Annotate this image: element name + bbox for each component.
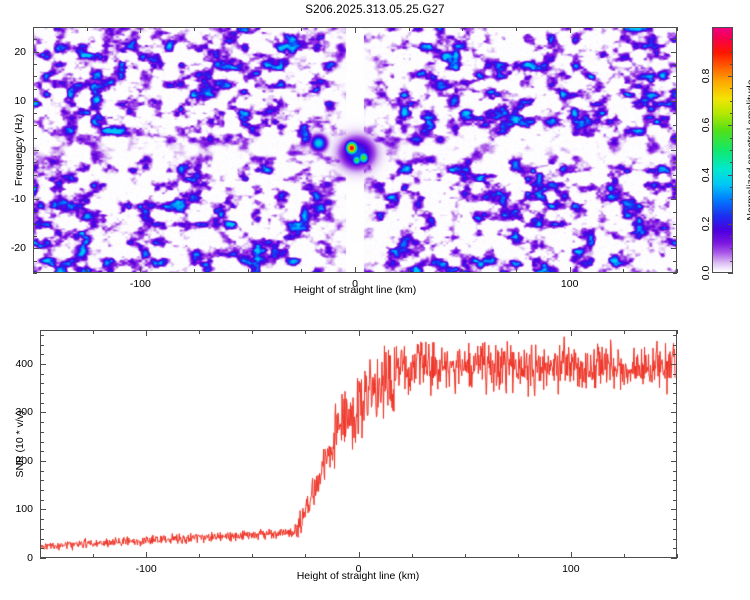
tick-mark: [677, 27, 678, 31]
tick-label: 100: [15, 503, 33, 515]
spectrogram-yaxis-label: Frequency (Hz): [13, 114, 25, 186]
figure-title: S206.2025.313.05.25.G27: [0, 4, 750, 16]
spectrogram-panel: [33, 27, 677, 273]
snr-panel: [40, 330, 677, 558]
tick-mark: [677, 330, 678, 334]
colorbar: [712, 27, 733, 273]
colorbar-tick-label: 0.4: [700, 167, 712, 182]
tick-label: 100: [562, 563, 580, 575]
tick-mark: [33, 273, 37, 274]
tick-mark: [677, 269, 678, 273]
tick-label: -10: [11, 193, 26, 205]
tick-label: 100: [561, 278, 579, 290]
tick-label: -100: [130, 278, 151, 290]
colorbar-tick-label: 0.2: [700, 216, 712, 231]
colorbar-tick-label: 0.8: [700, 69, 712, 84]
snr-canvas: [41, 331, 676, 557]
spectrogram-image: [33, 27, 677, 273]
spectrogram-xaxis-label: Height of straight line (km): [294, 284, 417, 296]
tick-mark: [677, 554, 678, 558]
tick-label: -100: [136, 563, 157, 575]
tick-mark: [40, 558, 46, 559]
colorbar-tick-label: 0.6: [700, 118, 712, 133]
snr-yaxis-label: SNR (10 * v/v): [14, 410, 26, 477]
tick-mark: [671, 558, 677, 559]
snr-xaxis-label: Height of straight line (km): [297, 570, 420, 582]
tick-label: -20: [11, 242, 26, 254]
colorbar-tick-label: 0.0: [700, 266, 712, 281]
tick-mark: [728, 273, 733, 274]
tick-label: 20: [14, 46, 26, 58]
snr-plot-area: [40, 330, 677, 558]
spectrogram-canvas: [34, 28, 676, 272]
tick-label: 400: [15, 358, 33, 370]
tick-label: 10: [14, 95, 26, 107]
tick-mark: [673, 273, 677, 274]
tick-label: 0: [27, 552, 33, 564]
colorbar-label: Normalized spectral amplitude: [745, 79, 750, 220]
figure-root: S206.2025.313.05.25.G27 -1000100-20-1001…: [0, 0, 750, 600]
